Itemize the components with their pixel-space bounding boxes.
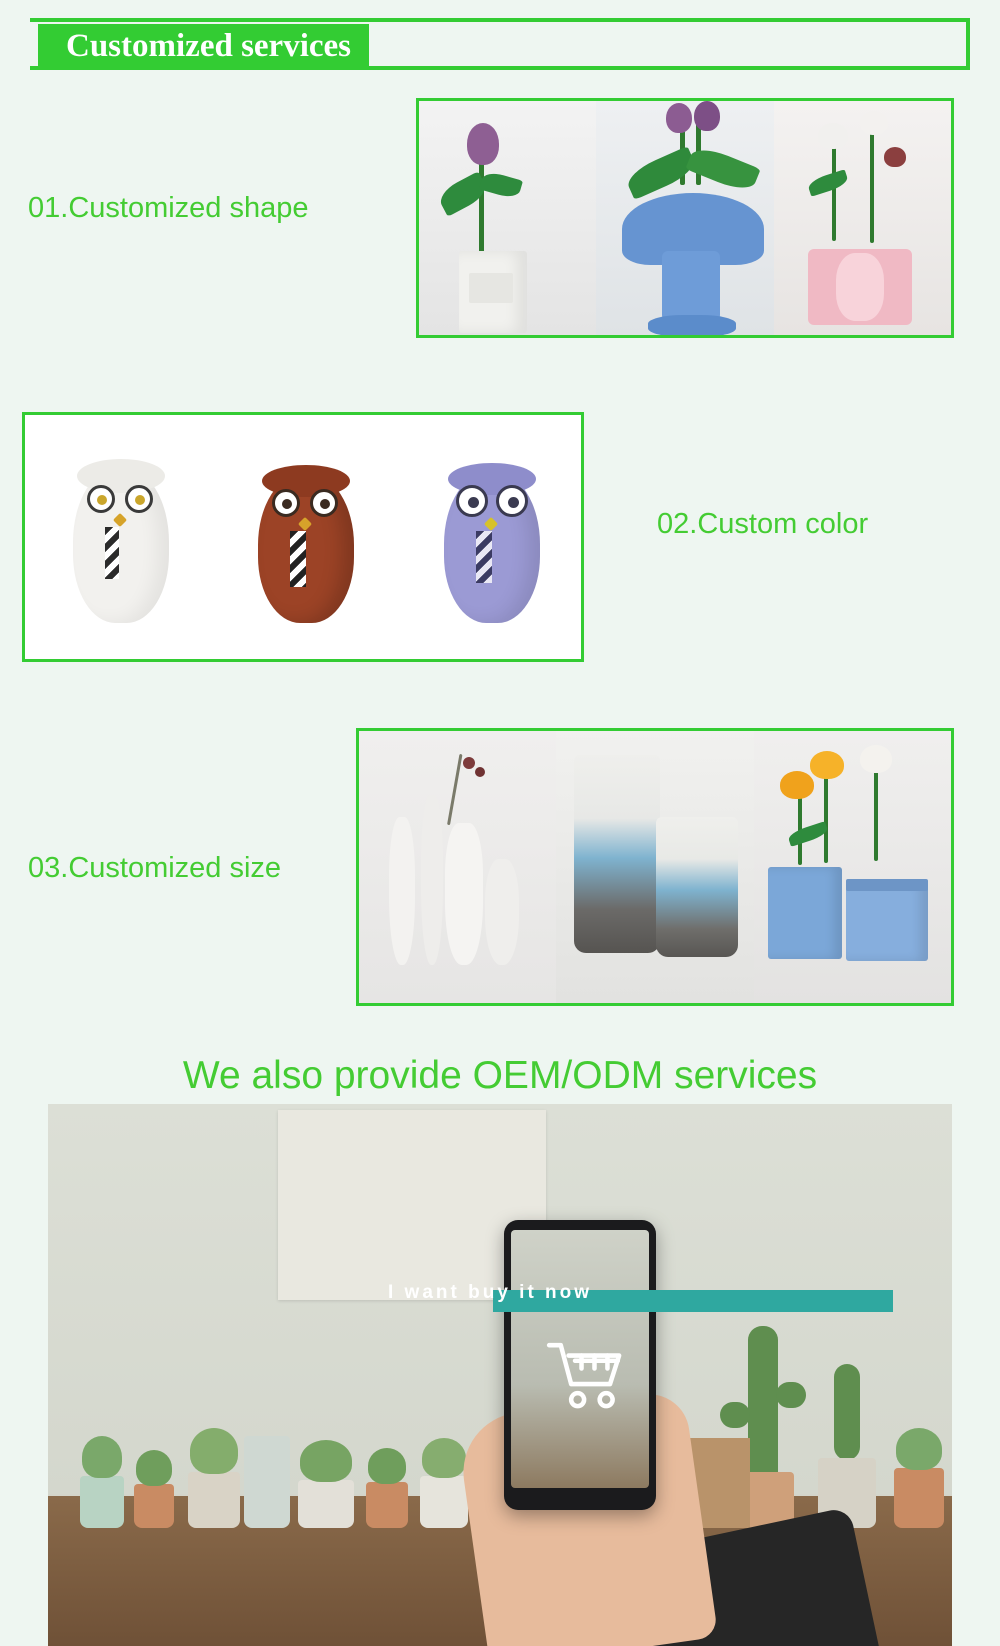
oem-banner-image: I want buy it now	[48, 1104, 952, 1646]
cactus-plant	[776, 1382, 806, 1408]
plant-foliage	[368, 1448, 406, 1484]
section-label-customized-size: 03.Customized size	[28, 852, 281, 885]
cactus-plant	[720, 1402, 750, 1428]
plant-pot	[244, 1436, 290, 1528]
photo-white-textured-vase-with-tulip	[419, 101, 596, 335]
plant-foliage	[82, 1436, 122, 1478]
photo-purple-owl-vase	[396, 415, 581, 659]
plant-pot	[894, 1468, 944, 1528]
cactus-plant	[834, 1364, 860, 1460]
plant-foliage	[422, 1438, 466, 1478]
plant-foliage	[136, 1450, 172, 1486]
plant-pot	[298, 1480, 354, 1528]
photo-frame-custom-color	[22, 412, 584, 662]
plant-foliage	[300, 1440, 352, 1482]
cta-text: I want buy it now	[388, 1282, 808, 1304]
photo-frame-customized-size	[356, 728, 954, 1006]
plant-foliage	[896, 1428, 942, 1470]
page-header: Customized services	[30, 18, 970, 70]
photo-brown-owl-vase	[210, 415, 395, 659]
oem-odm-heading: We also provide OEM/ODM services	[0, 1054, 1000, 1098]
plant-pot	[134, 1484, 174, 1528]
photo-blue-book-shaped-vases-with-poppies	[754, 731, 951, 1003]
photo-white-slim-vases-group	[359, 731, 556, 1003]
section-label-customized-shape: 01.Customized shape	[28, 192, 309, 225]
plant-pot	[188, 1472, 240, 1528]
section-label-custom-color: 02.Custom color	[657, 508, 868, 541]
photo-white-owl-vase	[25, 415, 210, 659]
plant-pot	[80, 1476, 124, 1528]
shopping-cart-icon	[546, 1340, 630, 1410]
plant-pot	[420, 1476, 468, 1528]
photo-pink-bow-vase-with-flowers	[774, 101, 951, 335]
photo-blue-speckled-tall-vases	[556, 731, 753, 1003]
photo-frame-customized-shape	[416, 98, 954, 338]
plant-foliage	[190, 1428, 238, 1474]
plant-pot	[366, 1482, 408, 1528]
photo-blue-palm-tree-vase-with-tulips	[596, 101, 773, 335]
page-title: Customized services	[38, 24, 369, 70]
cactus-plant	[748, 1326, 778, 1496]
